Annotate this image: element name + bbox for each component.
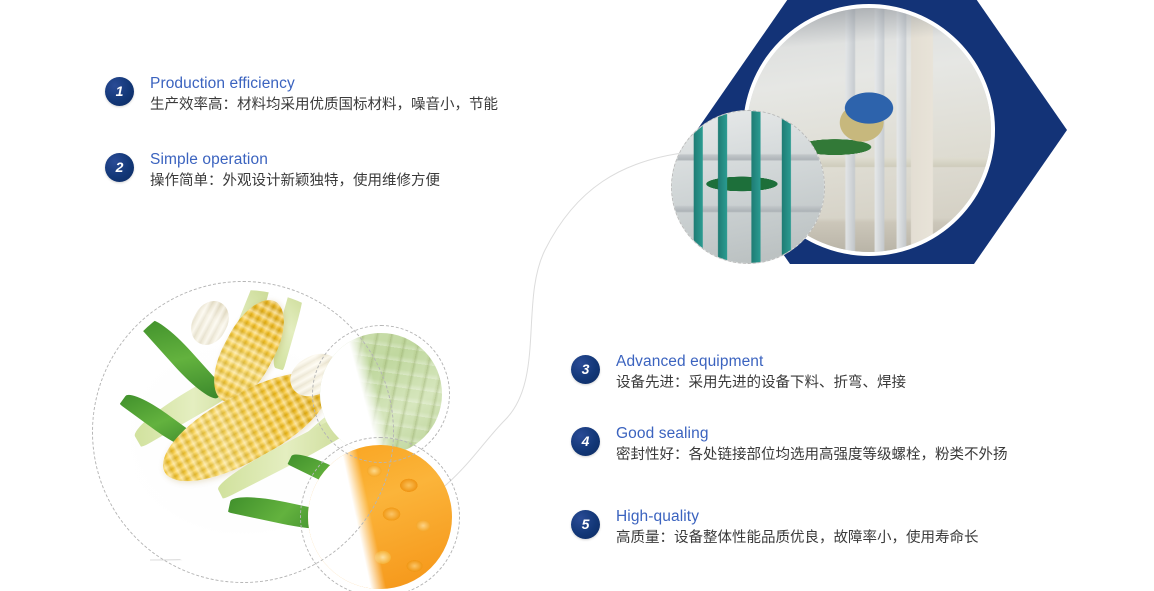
infographic-page: 1 Production efficiency 生产效率高：材料均采用优质国标材… [0,0,1154,591]
feature-text-1: Production efficiency 生产效率高：材料均采用优质国标材料，… [150,74,498,116]
feature-desc-2: 操作简单：外观设计新颖独特，使用维修方便 [150,170,440,192]
corn-photo-group [92,281,462,591]
feature-desc-3: 设备先进：采用先进的设备下料、折弯、焊接 [616,372,906,394]
feature-title-1: Production efficiency [150,74,498,94]
feature-text-3: Advanced equipment 设备先进：采用先进的设备下料、折弯、焊接 [616,352,906,394]
hexagon-photo-group [697,0,1067,264]
feature-title-2: Simple operation [150,150,440,170]
feature-badge-1: 1 [105,77,134,106]
green-machinery-image [672,111,824,263]
feature-desc-5: 高质量：设备整体性能品质优良，故障率小，使用寿命长 [616,527,979,549]
feature-badge-4: 4 [571,427,600,456]
feature-desc-1: 生产效率高：材料均采用优质国标材料，噪音小，节能 [150,94,498,116]
feature-title-4: Good sealing [616,424,1008,444]
kernels-dashed-ring [300,437,460,591]
feature-badge-2: 2 [105,153,134,182]
feature-text-4: Good sealing 密封性好：各处链接部位均选用高强度等级螺栓，粉类不外扬 [616,424,1008,466]
feature-title-5: High-quality [616,507,979,527]
feature-desc-4: 密封性好：各处链接部位均选用高强度等级螺栓，粉类不外扬 [616,444,1008,466]
hexagon-small-photo [671,110,825,264]
feature-badge-5: 5 [571,510,600,539]
feature-text-2: Simple operation 操作简单：外观设计新颖独特，使用维修方便 [150,150,440,192]
feature-title-3: Advanced equipment [616,352,906,372]
feature-item-3: 3 Advanced equipment 设备先进：采用先进的设备下料、折弯、焊… [571,355,906,394]
feature-text-5: High-quality 高质量：设备整体性能品质优良，故障率小，使用寿命长 [616,507,979,549]
feature-badge-3: 3 [571,355,600,384]
feature-item-5: 5 High-quality 高质量：设备整体性能品质优良，故障率小，使用寿命长 [571,510,979,549]
feature-item-1: 1 Production efficiency 生产效率高：材料均采用优质国标材… [105,77,498,116]
feature-item-4: 4 Good sealing 密封性好：各处链接部位均选用高强度等级螺栓，粉类不… [571,427,1008,466]
feature-item-2: 2 Simple operation 操作简单：外观设计新颖独特，使用维修方便 [105,153,440,192]
